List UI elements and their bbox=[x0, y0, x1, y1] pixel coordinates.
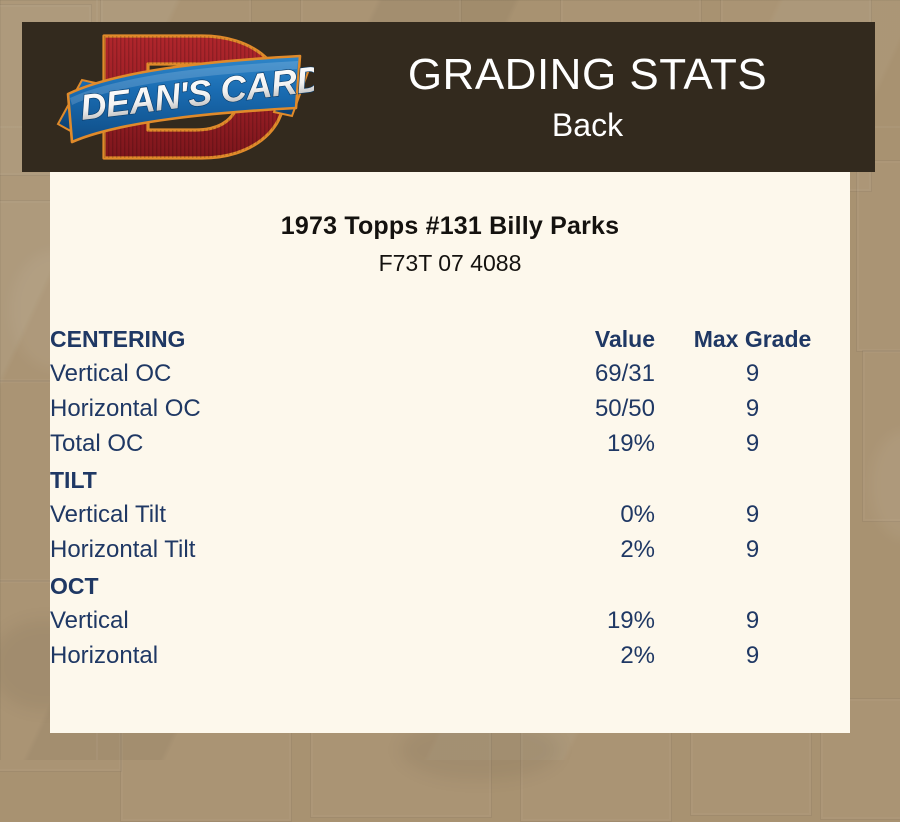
stat-label: Vertical Tilt bbox=[50, 494, 420, 529]
section-header-row: OCT bbox=[50, 564, 850, 600]
spacer-cell bbox=[655, 564, 850, 600]
table-row: Vertical Tilt0%9 bbox=[50, 494, 850, 529]
section-title: OCT bbox=[50, 564, 420, 600]
section-header-row: TILT bbox=[50, 458, 850, 494]
stat-max-grade: 9 bbox=[655, 423, 850, 458]
deans-cards-logo[interactable]: DEAN'S CARDS bbox=[52, 24, 314, 170]
header-title-block: GRADING STATS Back bbox=[322, 22, 875, 172]
stat-value: 0% bbox=[420, 494, 655, 529]
column-header-max-grade: Max Grade bbox=[655, 317, 850, 353]
header-bar: DEAN'S CARDS GRADING STATS Back bbox=[22, 22, 875, 172]
card-serial-number: F73T 07 4088 bbox=[50, 250, 850, 277]
table-row: Horizontal2%9 bbox=[50, 635, 850, 670]
stat-label: Horizontal Tilt bbox=[50, 529, 420, 564]
grading-stats-table: CENTERINGValueMax GradeVertical OC69/319… bbox=[50, 317, 850, 670]
stat-value: 19% bbox=[420, 600, 655, 635]
stat-max-grade: 9 bbox=[655, 353, 850, 388]
stat-max-grade: 9 bbox=[655, 388, 850, 423]
table-row: Total OC19%9 bbox=[50, 423, 850, 458]
stat-label: Vertical bbox=[50, 600, 420, 635]
section-title: TILT bbox=[50, 458, 420, 494]
stat-label: Total OC bbox=[50, 423, 420, 458]
spacer-cell bbox=[420, 458, 655, 494]
stat-value: 69/31 bbox=[420, 353, 655, 388]
stat-max-grade: 9 bbox=[655, 635, 850, 670]
page-subtitle: Back bbox=[552, 105, 623, 145]
table-row: Horizontal Tilt2%9 bbox=[50, 529, 850, 564]
spacer-cell bbox=[420, 564, 655, 600]
stat-value: 2% bbox=[420, 529, 655, 564]
table-row: Vertical OC69/319 bbox=[50, 353, 850, 388]
page-title: GRADING STATS bbox=[408, 49, 767, 101]
stat-max-grade: 9 bbox=[655, 600, 850, 635]
stat-label: Vertical OC bbox=[50, 353, 420, 388]
table-row: Vertical19%9 bbox=[50, 600, 850, 635]
column-header-value: Value bbox=[420, 317, 655, 353]
stat-max-grade: 9 bbox=[655, 529, 850, 564]
spacer-cell bbox=[655, 458, 850, 494]
card-title: 1973 Topps #131 Billy Parks bbox=[50, 212, 850, 241]
table-row: Horizontal OC50/509 bbox=[50, 388, 850, 423]
section-header-row: CENTERINGValueMax Grade bbox=[50, 317, 850, 353]
stat-label: Horizontal bbox=[50, 635, 420, 670]
stat-max-grade: 9 bbox=[655, 494, 850, 529]
section-title: CENTERING bbox=[50, 317, 420, 353]
content-panel: 1973 Topps #131 Billy Parks F73T 07 4088… bbox=[50, 172, 850, 733]
stat-label: Horizontal OC bbox=[50, 388, 420, 423]
stat-value: 19% bbox=[420, 423, 655, 458]
stat-value: 2% bbox=[420, 635, 655, 670]
stat-value: 50/50 bbox=[420, 388, 655, 423]
